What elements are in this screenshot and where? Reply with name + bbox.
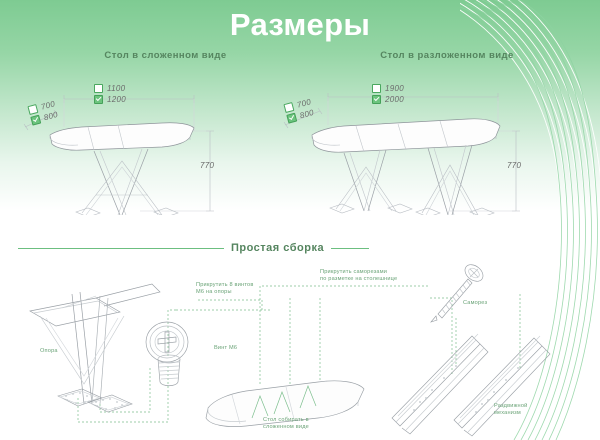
dimension-block-extended: Стол в разложенном виде 1900 2000 <box>282 50 582 215</box>
checkbox-checked-icon[interactable] <box>94 95 103 104</box>
label-bolt: Винт М6 <box>214 345 237 352</box>
page-title: Размеры <box>0 6 600 44</box>
dimension-block-folded: Стол в сложенном виде 1100 1200 <box>22 50 277 215</box>
label-screws-note: Прикрутить 8 винтов М6 на опоры <box>196 282 254 296</box>
option-row[interactable]: 1900 <box>372 83 404 93</box>
checkbox-unchecked-icon[interactable] <box>94 84 103 93</box>
length-options-extended[interactable]: 1900 2000 <box>372 83 404 105</box>
option-row[interactable]: 1200 <box>94 94 126 104</box>
dimensions-section: Стол в сложенном виде 1100 1200 <box>0 50 600 225</box>
option-value: 1900 <box>385 84 404 93</box>
assembly-section-title: Простая сборка <box>231 242 324 254</box>
label-table-note: Стол собирать в сложенном виде <box>263 417 309 431</box>
table-drawing-extended: 1900 2000 700 800 <box>282 65 582 215</box>
label-mechanism: Раздвижной механизм <box>494 403 527 417</box>
assembly-section: Опора Прикрутить 8 винтов М6 на опоры Ви… <box>0 256 600 440</box>
checkbox-checked-icon[interactable] <box>30 114 41 125</box>
divider-rule-left <box>18 248 224 249</box>
infographic-page: Размеры Стол в сложенном виде 1100 1200 <box>0 0 600 440</box>
assembly-divider: Простая сборка <box>18 240 582 256</box>
height-value-folded: 770 <box>200 161 214 170</box>
dimension-heading-folded: Стол в сложенном виде <box>54 50 277 61</box>
label-support: Опора <box>40 348 58 355</box>
length-options-folded[interactable]: 1100 1200 <box>94 83 126 105</box>
folded-table-svg <box>22 65 277 215</box>
checkbox-unchecked-icon[interactable] <box>372 84 381 93</box>
checkbox-unchecked-icon[interactable] <box>27 104 38 115</box>
dimension-heading-extended: Стол в разложенном виде <box>312 50 582 61</box>
checkbox-checked-icon[interactable] <box>286 112 297 123</box>
option-value: 1100 <box>107 84 125 93</box>
checkbox-unchecked-icon[interactable] <box>283 102 294 113</box>
label-selftap-note: Прикрутить саморезами по разметке на сто… <box>320 269 397 283</box>
option-value: 1200 <box>107 95 126 104</box>
checkbox-checked-icon[interactable] <box>372 95 381 104</box>
option-value: 2000 <box>385 95 404 104</box>
table-drawing-folded: 1100 1200 700 800 <box>22 65 277 215</box>
option-row[interactable]: 2000 <box>372 94 404 104</box>
option-value: 800 <box>299 107 315 119</box>
height-value-extended: 770 <box>507 161 521 170</box>
label-selftap: Саморез <box>463 300 487 307</box>
option-row[interactable]: 1100 <box>94 83 126 93</box>
option-value: 800 <box>43 109 59 121</box>
extended-table-svg <box>282 65 582 215</box>
divider-rule-right <box>331 248 369 249</box>
